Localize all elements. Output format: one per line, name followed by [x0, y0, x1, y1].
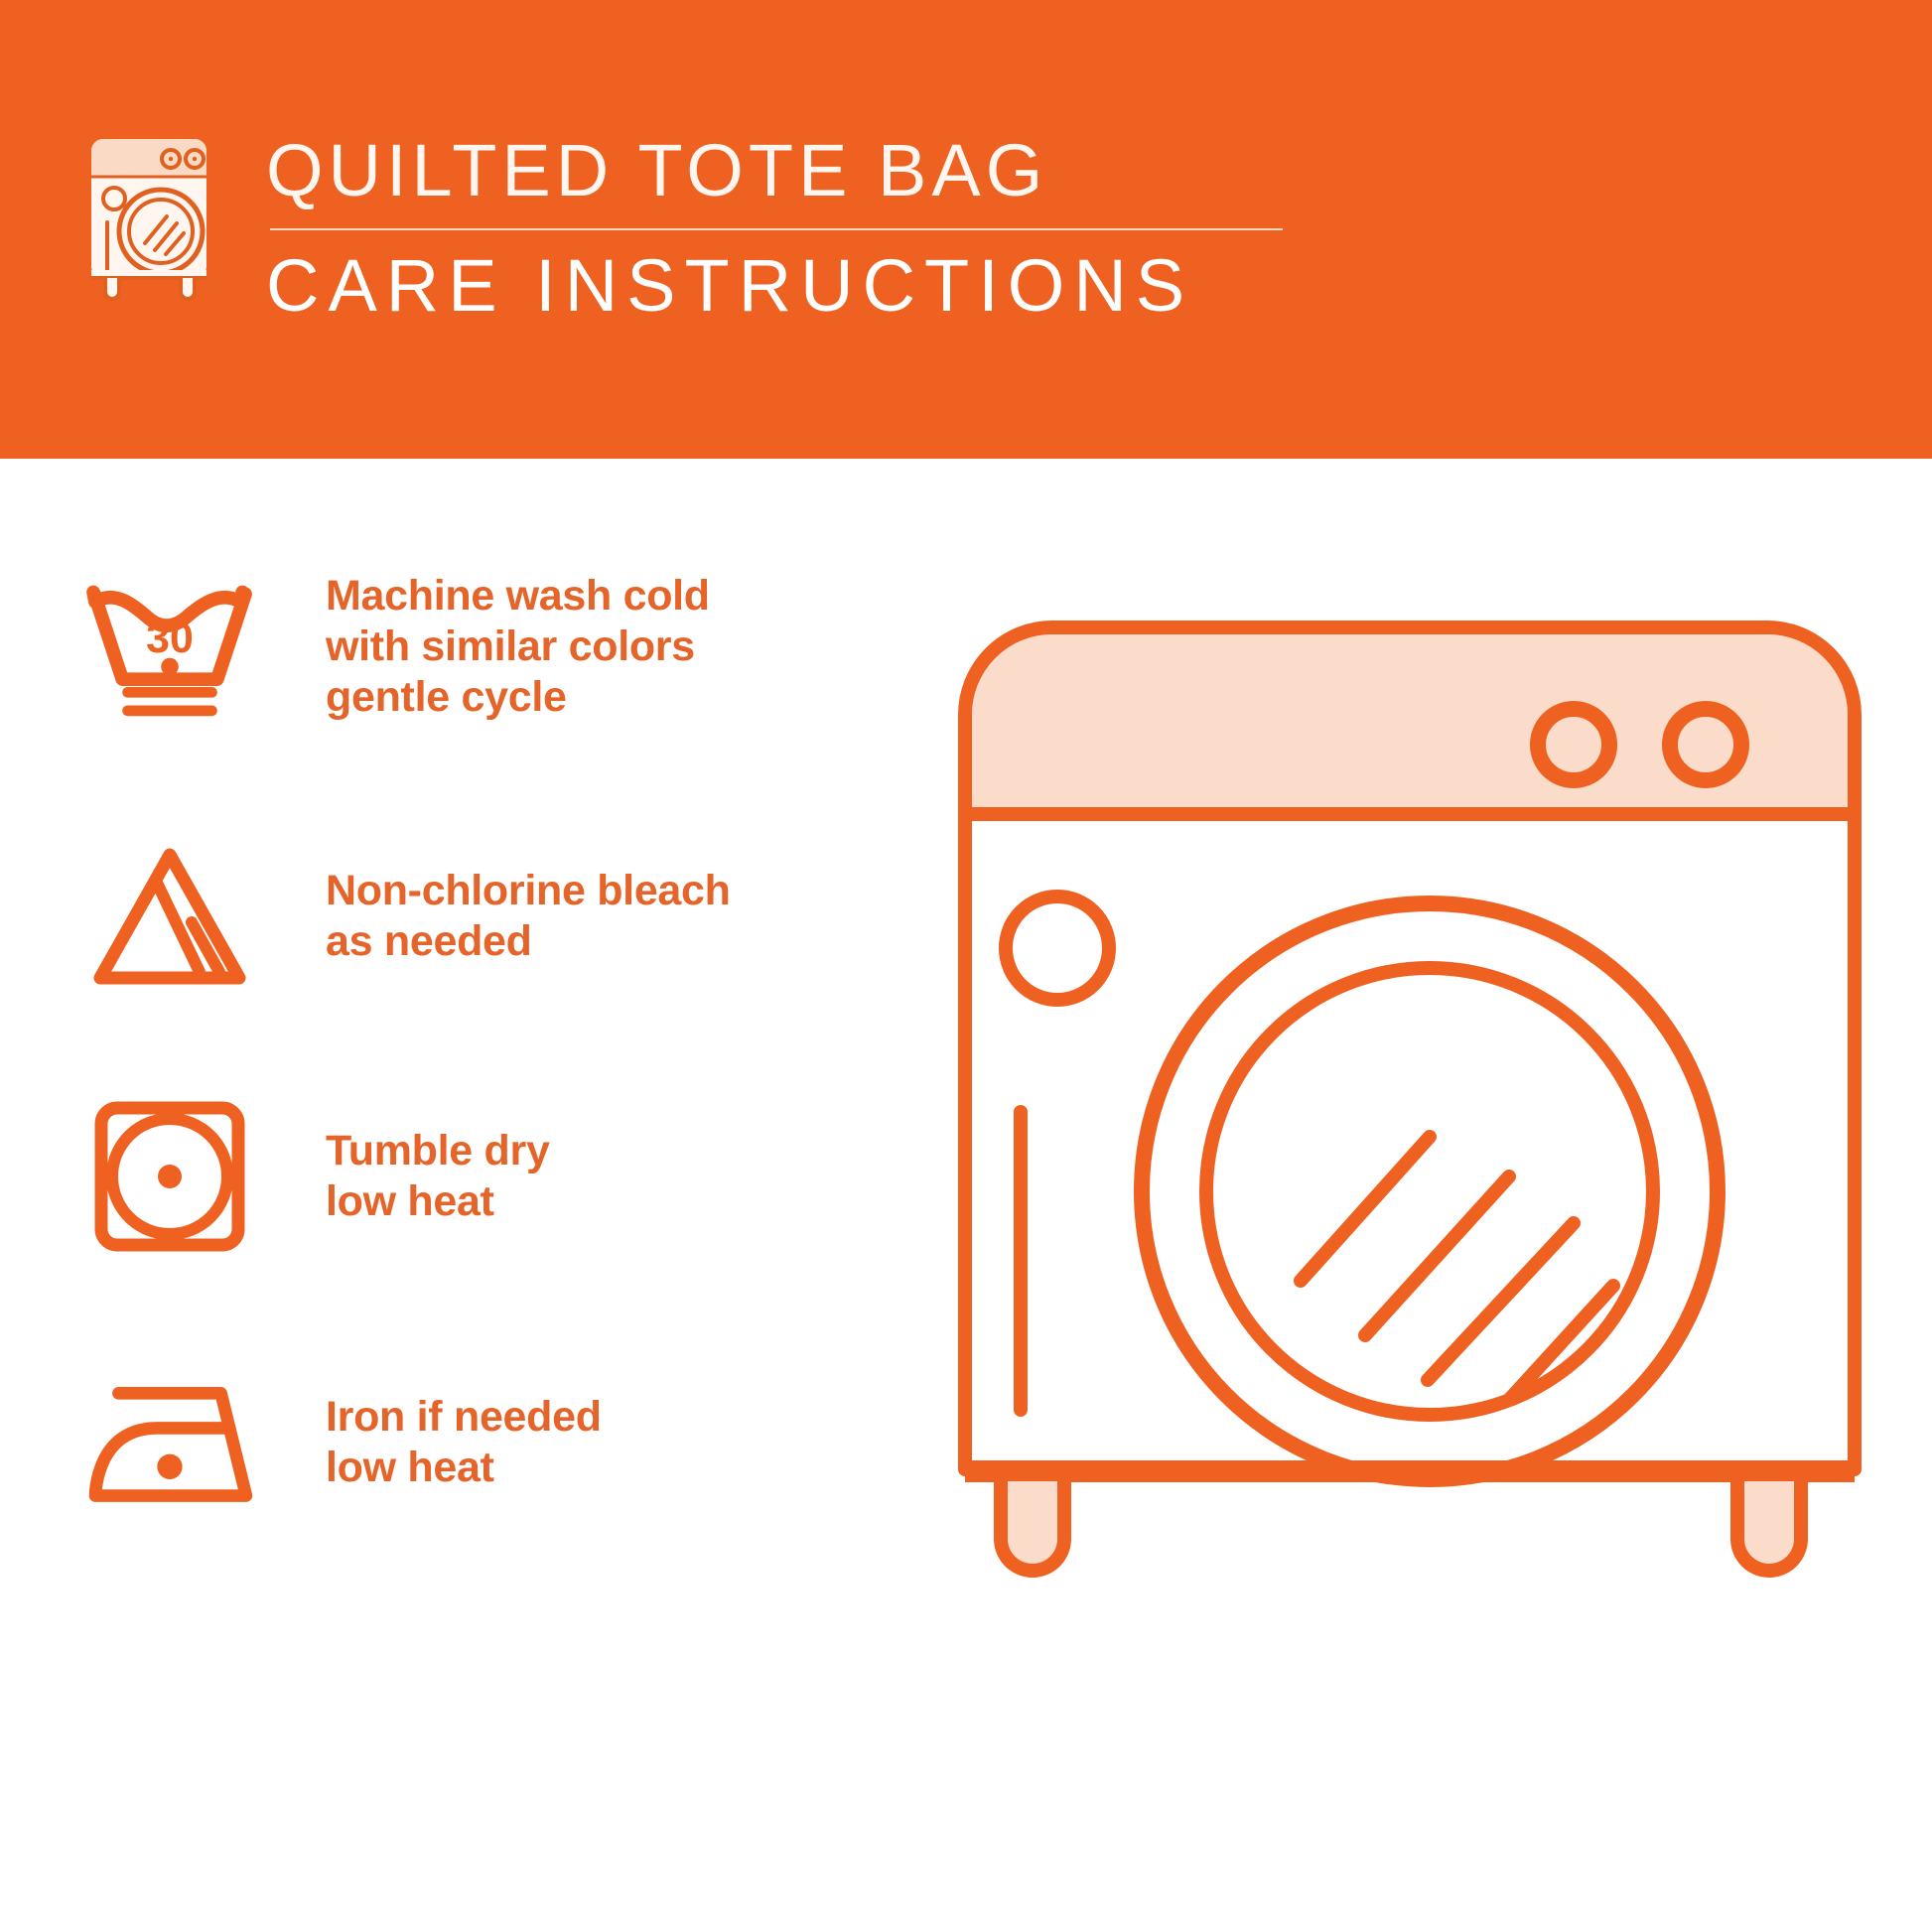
care-row-tumble-dry: Tumble dry low heat — [77, 1084, 550, 1269]
header-banner: QUILTED TOTE BAG CARE INSTRUCTIONS — [0, 0, 1932, 459]
care-row-bleach: Non-chlorine bleach as needed — [77, 824, 731, 1009]
care-row-iron: Iron if needed low heat — [77, 1350, 602, 1535]
title-divider — [270, 228, 1283, 230]
care-row-machine-wash: 30 Machine wash cold with similar colors… — [77, 554, 710, 739]
iron-low-heat-icon — [77, 1350, 262, 1535]
care-label-iron: Iron if needed low heat — [326, 1392, 602, 1493]
care-label-machine-wash: Machine wash cold with similar colors ge… — [326, 571, 710, 723]
header-content: QUILTED TOTE BAG CARE INSTRUCTIONS — [81, 127, 1283, 328]
front-load-washing-machine-illustration — [953, 616, 1866, 1608]
wash-tub-30-gentle-icon: 30 — [77, 554, 262, 739]
care-label-bleach: Non-chlorine bleach as needed — [326, 866, 731, 967]
non-chlorine-bleach-triangle-icon — [77, 824, 262, 1009]
care-instructions-infographic: QUILTED TOTE BAG CARE INSTRUCTIONS 30 Ma… — [0, 0, 1932, 1932]
page-title: QUILTED TOTE BAG — [266, 129, 1283, 212]
header-titles: QUILTED TOTE BAG CARE INSTRUCTIONS — [266, 127, 1283, 328]
care-label-tumble-dry: Tumble dry low heat — [326, 1126, 550, 1227]
washing-machine-icon — [81, 131, 230, 302]
wash-temperature-value: 30 — [146, 615, 194, 662]
page-subtitle: CARE INSTRUCTIONS — [266, 244, 1283, 328]
tumble-dry-low-heat-icon — [77, 1084, 262, 1269]
